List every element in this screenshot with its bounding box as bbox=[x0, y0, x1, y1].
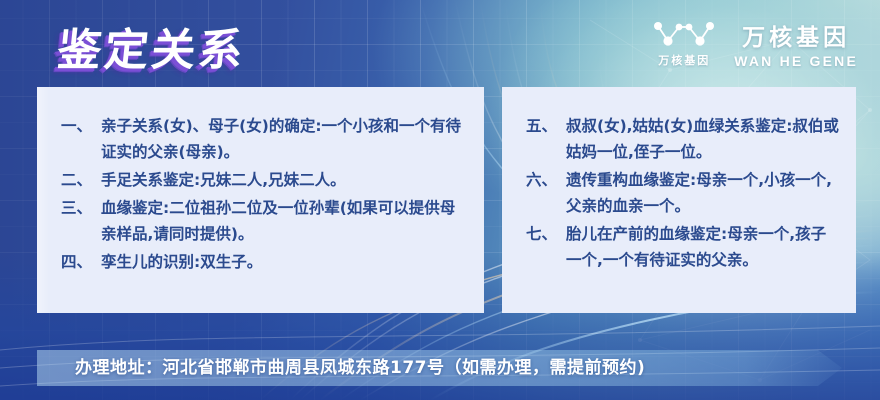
list-item-text: 遗传重构血缘鉴定:母亲一个,小孩一个,父亲的血亲一个。 bbox=[566, 167, 840, 219]
panel-left: 一、 亲子关系(女)、母子(女)的确定:一个小孩和一个有待证实的父亲(母亲)。 … bbox=[37, 87, 484, 313]
list-item: 二、 手足关系鉴定:兄妹二人,兄妹二人。 bbox=[61, 167, 468, 193]
panel-separator-gap bbox=[484, 87, 502, 313]
list-item: 五、 叔叔(女),姑姑(女)血绿关系鉴定:叔伯或姑妈一位,侄子一位。 bbox=[526, 113, 840, 165]
content-panels: 一、 亲子关系(女)、母子(女)的确定:一个小孩和一个有待证实的父亲(母亲)。 … bbox=[37, 87, 856, 313]
poster-canvas: 鉴定关系 万核基因 bbox=[0, 0, 880, 400]
list-item: 三、 血缘鉴定:二位祖孙二位及一位孙辈(如果可以提供母亲样品,请同时提供)。 bbox=[61, 195, 468, 247]
list-item-number: 五、 bbox=[526, 113, 566, 165]
list-item-text: 手足关系鉴定:兄妹二人,兄妹二人。 bbox=[101, 167, 468, 193]
list-item: 七、 胎儿在产前的血缘鉴定:母亲一个,孩子一个,一个有待证实的父亲。 bbox=[526, 221, 840, 273]
page-title: 鉴定关系 bbox=[55, 14, 250, 78]
panel-right: 五、 叔叔(女),姑姑(女)血绿关系鉴定:叔伯或姑妈一位,侄子一位。 六、 遗传… bbox=[502, 87, 856, 313]
list-item-number: 一、 bbox=[61, 113, 101, 165]
list-item-number: 二、 bbox=[61, 167, 101, 193]
panel-left-item-list: 一、 亲子关系(女)、母子(女)的确定:一个小孩和一个有待证实的父亲(母亲)。 … bbox=[37, 87, 484, 275]
brand-name-block: 万核基因 WAN HE GENE bbox=[734, 18, 858, 69]
list-item-number: 七、 bbox=[526, 221, 566, 273]
brand-logo: 万核基因 万核基因 WAN HE GENE bbox=[652, 18, 858, 69]
brand-name-en: WAN HE GENE bbox=[734, 53, 858, 69]
brand-mark: 万核基因 bbox=[652, 19, 716, 68]
panel-left-edge-highlight bbox=[37, 87, 49, 313]
address-text: 办理地址：河北省邯郸市曲周县凤城东路177号（如需办理，需提前预约) bbox=[37, 350, 842, 386]
brand-name-cn: 万核基因 bbox=[742, 18, 850, 52]
panel-right-item-list: 五、 叔叔(女),姑姑(女)血绿关系鉴定:叔伯或姑妈一位,侄子一位。 六、 遗传… bbox=[502, 87, 856, 273]
list-item-number: 六、 bbox=[526, 167, 566, 219]
address-bar: 办理地址：河北省邯郸市曲周县凤城东路177号（如需办理，需提前预约) bbox=[37, 350, 842, 386]
brand-mark-label: 万核基因 bbox=[658, 52, 710, 68]
list-item-text: 叔叔(女),姑姑(女)血绿关系鉴定:叔伯或姑妈一位,侄子一位。 bbox=[566, 113, 840, 165]
list-item: 六、 遗传重构血缘鉴定:母亲一个,小孩一个,父亲的血亲一个。 bbox=[526, 167, 840, 219]
list-item-number: 三、 bbox=[61, 195, 101, 247]
molecule-network-icon bbox=[652, 19, 716, 49]
list-item: 一、 亲子关系(女)、母子(女)的确定:一个小孩和一个有待证实的父亲(母亲)。 bbox=[61, 113, 468, 165]
list-item-text: 血缘鉴定:二位祖孙二位及一位孙辈(如果可以提供母亲样品,请同时提供)。 bbox=[101, 195, 468, 247]
list-item-text: 亲子关系(女)、母子(女)的确定:一个小孩和一个有待证实的父亲(母亲)。 bbox=[101, 113, 468, 165]
list-item-text: 胎儿在产前的血缘鉴定:母亲一个,孩子一个,一个有待证实的父亲。 bbox=[566, 221, 840, 273]
list-item-text: 孪生儿的识别:双生子。 bbox=[101, 249, 468, 275]
list-item-number: 四、 bbox=[61, 249, 101, 275]
list-item: 四、 孪生儿的识别:双生子。 bbox=[61, 249, 468, 275]
